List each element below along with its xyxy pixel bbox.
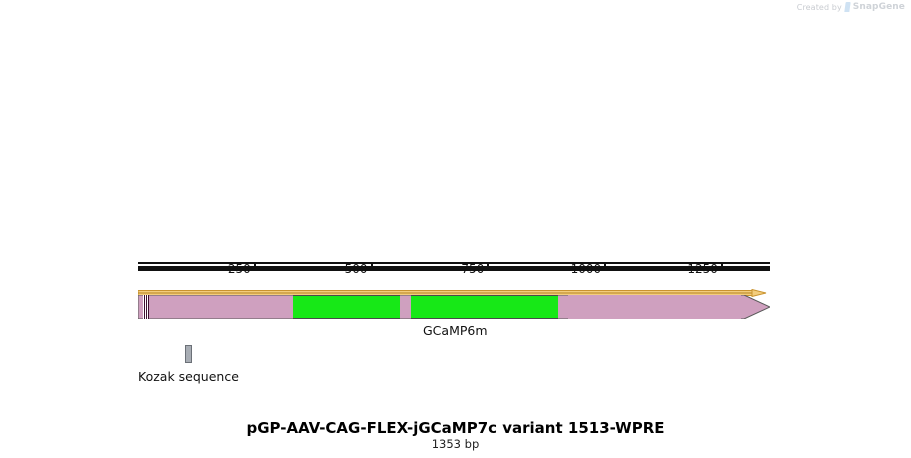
ruler-tick-label: 500 — [345, 262, 370, 276]
orf-arrow — [138, 283, 766, 290]
feature-calmodulin — [568, 295, 741, 319]
page-subtitle: 1353 bp — [0, 437, 911, 451]
ruler-top-rule — [138, 262, 770, 264]
feature-track — [138, 295, 770, 319]
ruler-tick-mark — [371, 262, 373, 271]
watermark-prefix: Created by — [797, 3, 842, 12]
kozak-sequence-marker — [185, 345, 192, 363]
ruler-tick-label: 1000 — [571, 262, 604, 276]
ruler-tick-mark — [487, 262, 489, 271]
snapgene-map-canvas: Created by SnapGene 25050075010001250 GC… — [0, 0, 911, 458]
snapgene-logo-icon — [844, 2, 850, 12]
ruler-tick-mark — [721, 262, 723, 271]
feature-egfp(149-238) — [293, 295, 400, 319]
sequence-ruler: 25050075010001250 — [0, 0, 911, 458]
ruler-tick-mark — [254, 262, 256, 271]
ruler-tick-label: 750 — [461, 262, 486, 276]
ruler-tick-label: 250 — [228, 262, 253, 276]
gcamp6m-label: GCaMP6m — [423, 323, 488, 338]
snapgene-watermark: Created by SnapGene — [797, 2, 905, 12]
kozak-sequence-label: Kozak sequence — [138, 369, 239, 384]
ruler-tick-mark — [604, 262, 606, 271]
ruler-tick-label: 1250 — [687, 262, 720, 276]
page-title: pGP-AAV-CAG-FLEX-jGCaMP7c variant 1513-W… — [0, 419, 911, 437]
feature-hatch-block — [143, 295, 149, 319]
feature-egfp(1-144) — [411, 295, 558, 319]
watermark-brand: SnapGene — [853, 2, 905, 12]
ruler-axis-bar — [138, 266, 770, 271]
